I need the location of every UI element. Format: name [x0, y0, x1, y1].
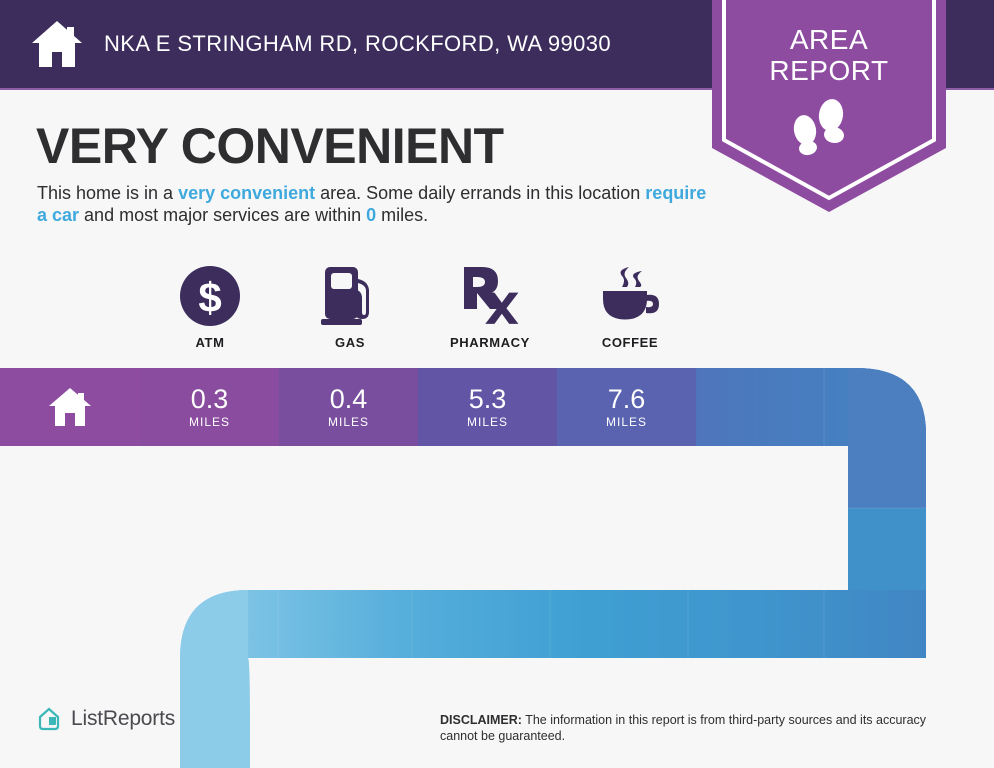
svg-text:$: $ [198, 274, 221, 321]
intro-highlight: 0 [366, 205, 376, 225]
header-content: NKA E STRINGHAM RD, ROCKFORD, WA 99030 [0, 19, 611, 69]
poi-item-atm: $ ATM [140, 265, 280, 360]
poi-label: PHARMACY [450, 335, 530, 350]
page-title: VERY CONVENIENT [36, 117, 504, 175]
gas-pump-icon [321, 265, 379, 327]
intro-text: and most major services are within [79, 205, 366, 225]
coffee-cup-icon [599, 265, 661, 327]
intro-paragraph: This home is in a very convenient area. … [37, 182, 707, 226]
property-address: NKA E STRINGHAM RD, ROCKFORD, WA 99030 [104, 31, 611, 57]
area-report-badge: AREA REPORT [712, 0, 946, 212]
poi-icon-row: $ ATM GAS PHAR [140, 265, 700, 360]
listreports-logo: ListReports [36, 706, 175, 732]
home-icon [30, 19, 84, 69]
snake-row-middle [180, 586, 926, 726]
intro-text: miles. [376, 205, 428, 225]
badge-line-1: AREA [712, 24, 946, 55]
atm-dollar-icon: $ [179, 265, 241, 327]
poi-item-pharmacy: PHARMACY [420, 265, 560, 360]
poi-item-gas: GAS [280, 265, 420, 360]
poi-label: GAS [335, 335, 365, 350]
listreports-logo-text: ListReports [71, 707, 175, 731]
intro-text: This home is in a [37, 183, 178, 203]
disclaimer-label: DISCLAIMER: [440, 713, 522, 727]
listreports-house-tag-icon [36, 706, 62, 732]
intro-text: area. Some daily errands in this locatio… [315, 183, 645, 203]
badge-line-2: REPORT [712, 55, 946, 86]
snake-row-top [0, 368, 926, 446]
poi-label: COFFEE [602, 335, 658, 350]
poi-label: ATM [196, 335, 225, 350]
intro-highlight: very convenient [178, 183, 315, 203]
snake-left-tail [180, 590, 250, 768]
disclaimer: DISCLAIMER: The information in this repo… [440, 712, 960, 744]
pharmacy-rx-icon [460, 265, 520, 327]
poi-item-coffee: COFFEE [560, 265, 700, 360]
badge-text: AREA REPORT [712, 24, 946, 86]
